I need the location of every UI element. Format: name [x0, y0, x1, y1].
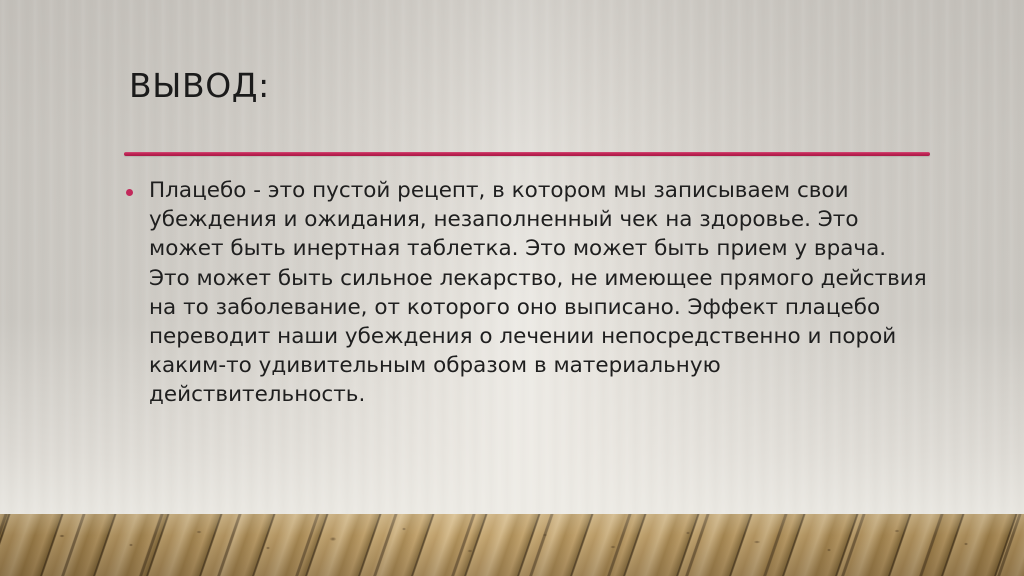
slide-content: ВЫВОД: Плацебо - это пустой рецепт, в ко… — [0, 0, 1024, 514]
slide-title: ВЫВОД: — [129, 66, 270, 106]
presentation-slide: ВЫВОД: Плацебо - это пустой рецепт, в ко… — [0, 0, 1024, 576]
bullet-dot-icon — [126, 189, 133, 196]
floor-sheen-overlay — [0, 514, 1024, 576]
bullet-item: Плацебо - это пустой рецепт, в котором м… — [122, 176, 932, 410]
bullet-item-text: Плацебо - это пустой рецепт, в котором м… — [149, 176, 932, 410]
title-divider-line — [124, 152, 930, 156]
slide-body: Плацебо - это пустой рецепт, в котором м… — [122, 176, 932, 410]
wooden-floor — [0, 514, 1024, 576]
